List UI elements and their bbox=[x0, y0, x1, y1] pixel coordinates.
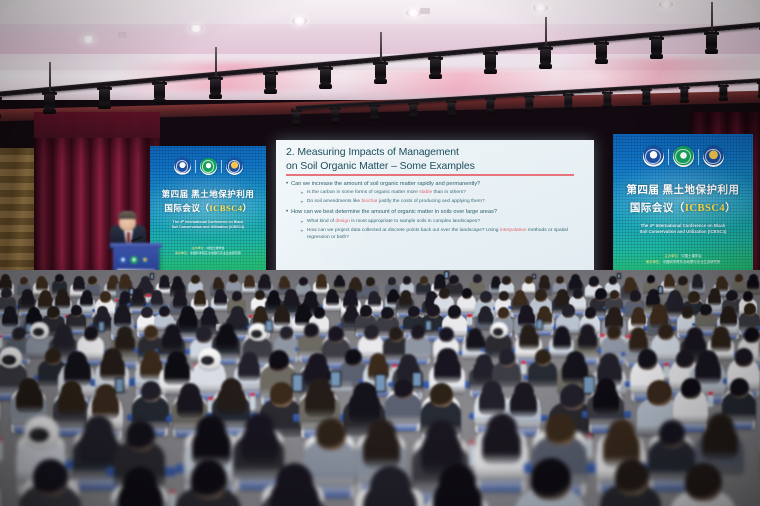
audience-chair bbox=[185, 432, 236, 496]
slide-body: •Can we increase the amount of soil orga… bbox=[286, 180, 586, 242]
fixture-body bbox=[44, 94, 55, 110]
laptop bbox=[171, 321, 184, 327]
audience-chair bbox=[684, 298, 704, 323]
stage-light-fixture bbox=[563, 94, 573, 110]
audience-person-head bbox=[630, 290, 642, 302]
audience-person-shoulders bbox=[33, 282, 49, 296]
audience-person-head bbox=[100, 291, 111, 303]
audience-chair bbox=[722, 296, 742, 321]
audience-person-head bbox=[345, 289, 356, 301]
audience-person-head bbox=[566, 351, 585, 371]
audience-person-hair bbox=[349, 280, 362, 293]
audience-person-shoulders bbox=[26, 335, 53, 359]
audience-person-shoulders bbox=[556, 314, 580, 335]
audience-chair bbox=[341, 296, 360, 320]
audience-person-head bbox=[492, 276, 500, 284]
table-skirt bbox=[493, 307, 516, 310]
institute-emblem-gold-icon bbox=[226, 158, 243, 175]
bottle-cap bbox=[0, 438, 2, 441]
audience-person-shoulders bbox=[265, 298, 283, 314]
audience-person-shoulders bbox=[73, 435, 123, 479]
audience-person-shoulders bbox=[138, 336, 163, 358]
audience-person-shoulders bbox=[385, 283, 400, 296]
audience-person-head bbox=[648, 289, 659, 300]
stage-light-fixture bbox=[704, 32, 718, 54]
audience-chair bbox=[53, 296, 72, 320]
audience-chair bbox=[133, 393, 168, 437]
audience-person-shoulders bbox=[154, 314, 174, 332]
audience-person-shoulders bbox=[727, 362, 760, 391]
audience-person-head bbox=[245, 413, 274, 443]
smartphone bbox=[292, 374, 303, 391]
audience-person-shoulders bbox=[495, 298, 512, 313]
audience-chair bbox=[696, 310, 715, 334]
audience-person-head bbox=[487, 413, 517, 444]
stage-light-fixture bbox=[649, 37, 663, 59]
audience-chair bbox=[322, 335, 349, 369]
audience-chair bbox=[404, 313, 424, 338]
audience-person-hair bbox=[229, 311, 246, 328]
audience-chair bbox=[644, 295, 662, 317]
audience-person-hair bbox=[0, 278, 12, 291]
audience-person-hair bbox=[473, 360, 494, 382]
audience-chair bbox=[475, 392, 508, 433]
audience-person-shoulders bbox=[405, 336, 431, 359]
audience-person-hair bbox=[96, 310, 110, 325]
audience-person-shoulders bbox=[732, 280, 746, 293]
smartphone bbox=[532, 274, 536, 280]
table-skirt bbox=[359, 379, 398, 384]
audience-person-shoulders bbox=[0, 317, 3, 337]
audience-person-hair bbox=[295, 309, 311, 326]
audience-person-shoulders bbox=[587, 393, 623, 425]
table-skirt bbox=[597, 348, 632, 353]
audience-person-shoulders bbox=[41, 315, 64, 335]
audience-person-shoulders bbox=[385, 296, 402, 311]
fixture-body bbox=[375, 64, 386, 80]
audience-person-head bbox=[498, 307, 509, 319]
water-bottle bbox=[170, 490, 175, 506]
audience-person-shoulders bbox=[296, 283, 311, 297]
audience-person-shoulders bbox=[109, 492, 170, 506]
audience-person-shoulders bbox=[137, 283, 154, 298]
audience-person-shoulders bbox=[260, 399, 302, 436]
downlight-icon bbox=[189, 25, 203, 32]
audience-person-head bbox=[351, 277, 361, 287]
audience-person-shoulders bbox=[198, 316, 219, 335]
slide-title-line-2: on Soil Organic Matter – Some Examples bbox=[286, 160, 586, 174]
ceiling-vent bbox=[118, 32, 127, 38]
audience-person-hair bbox=[368, 294, 381, 307]
audience-person-shoulders bbox=[462, 338, 487, 360]
audience-person-hair bbox=[119, 295, 132, 308]
audience-person-shoulders bbox=[552, 297, 571, 314]
water-bottle bbox=[65, 315, 70, 325]
table-skirt bbox=[268, 324, 297, 328]
audience-person-head bbox=[280, 276, 288, 285]
sub-bullet-arrow-icon: ➢ bbox=[300, 189, 304, 196]
audience-person-shoulders bbox=[722, 298, 743, 317]
audience-person-hair bbox=[537, 310, 551, 325]
audience-person-shoulders bbox=[376, 316, 399, 336]
table-skirt bbox=[0, 351, 3, 356]
audience-person-hair bbox=[201, 312, 217, 328]
audience-person-head bbox=[698, 350, 718, 371]
audience-person-head bbox=[647, 275, 655, 284]
table-skirt bbox=[621, 352, 657, 357]
audience-chair bbox=[0, 294, 15, 316]
audience-person-shoulders bbox=[403, 315, 424, 334]
audience-chair bbox=[173, 395, 207, 437]
audience-person-shoulders bbox=[362, 284, 379, 299]
white-cap bbox=[490, 322, 508, 339]
audience-person-hair bbox=[73, 279, 86, 292]
audience-person-head bbox=[364, 325, 378, 340]
podium-logo-blue-icon bbox=[119, 256, 127, 264]
audience-person-head bbox=[120, 274, 130, 284]
smartphone bbox=[129, 288, 134, 295]
bottle-cap bbox=[467, 314, 472, 317]
audience-person-shoulders bbox=[243, 337, 273, 363]
audience-chair bbox=[21, 479, 79, 506]
audience-person-shoulders bbox=[77, 336, 103, 359]
smartphone bbox=[617, 273, 621, 279]
bottle-cap bbox=[0, 335, 2, 338]
audience-person-head bbox=[103, 348, 122, 368]
slide-bullet: •How can we best determine the amount of… bbox=[286, 208, 586, 216]
audience-person-head bbox=[678, 276, 687, 286]
table-skirt bbox=[587, 308, 615, 312]
led-en-title-2: Soil Conservation and Utilization (ICBSC… bbox=[162, 225, 254, 230]
audience-person-shoulders bbox=[23, 315, 44, 334]
audience-person-shoulders bbox=[648, 439, 695, 481]
fixture-lens-icon bbox=[719, 97, 728, 101]
audience-person-shoulders bbox=[431, 282, 449, 298]
fixture-lens-icon bbox=[292, 122, 301, 126]
highlighted-term: stable bbox=[419, 190, 432, 195]
podium-logo-green-icon bbox=[130, 256, 138, 264]
audience-person-head bbox=[744, 327, 760, 343]
audience-chair bbox=[533, 431, 585, 496]
audience-person-hair bbox=[478, 310, 493, 325]
fixture-lens-icon bbox=[0, 114, 1, 119]
audience-person-hair bbox=[304, 360, 330, 387]
audience-person-shoulders bbox=[590, 297, 611, 316]
audience-chair bbox=[96, 297, 114, 320]
audience-chair bbox=[243, 334, 271, 369]
smartphone bbox=[658, 286, 663, 294]
audience-person-shoulders bbox=[188, 281, 203, 294]
audience-person-hair bbox=[539, 279, 551, 291]
table-skirt bbox=[354, 348, 389, 353]
audience-person-hair bbox=[684, 333, 705, 355]
audience-person-hair bbox=[708, 292, 721, 306]
audience-person-head bbox=[196, 415, 226, 447]
water-bottle bbox=[218, 337, 223, 350]
audience-person-shoulders bbox=[669, 362, 700, 390]
audience-person-hair bbox=[162, 330, 182, 351]
fixture-lens-icon bbox=[486, 111, 495, 115]
audience-person-shoulders bbox=[281, 298, 302, 316]
audience-person-head bbox=[600, 353, 619, 373]
audience-person-shoulders bbox=[339, 361, 368, 386]
audience-person-head bbox=[141, 276, 150, 286]
audience-chair bbox=[112, 335, 138, 368]
audience-chair bbox=[0, 360, 26, 400]
audience-person-head bbox=[403, 276, 411, 285]
audience-person-shoulders bbox=[175, 487, 240, 506]
audience-person-shoulders bbox=[549, 402, 593, 441]
institute-emblem-blue-icon bbox=[643, 146, 664, 167]
audience-person-shoulders bbox=[689, 281, 705, 295]
table-skirt bbox=[500, 415, 548, 421]
audience-person-hair bbox=[107, 279, 120, 293]
audience-person-hair bbox=[132, 291, 144, 304]
audience-person-head bbox=[625, 277, 635, 287]
audience-person-head bbox=[744, 303, 756, 316]
audience-person-shoulders bbox=[605, 297, 623, 313]
audience-person-head bbox=[560, 384, 585, 410]
fixture-body bbox=[651, 39, 662, 55]
speaker-hair bbox=[118, 211, 137, 219]
table-skirt bbox=[20, 326, 49, 330]
bottle-cap bbox=[249, 315, 254, 318]
audience-chair bbox=[275, 334, 298, 362]
audience-chair bbox=[213, 332, 239, 365]
audience-person-shoulders bbox=[515, 487, 585, 506]
truss-hanging-rod bbox=[380, 32, 382, 62]
fixture-body bbox=[448, 102, 456, 114]
table-skirt bbox=[643, 326, 676, 330]
table-skirt bbox=[146, 305, 168, 308]
table-skirt bbox=[363, 306, 386, 309]
stage-light-fixture bbox=[42, 92, 56, 114]
audience-person-shoulders bbox=[0, 363, 27, 393]
conference-hall-photo: 第四届 黑土地保护利用 国际会议（ICBSC4） The 4ᵗʰ Interna… bbox=[0, 0, 760, 506]
audience-person-head bbox=[96, 384, 116, 405]
audience-person-shoulders bbox=[680, 338, 709, 363]
audience-person-head bbox=[435, 274, 445, 284]
stage-light-fixture bbox=[369, 105, 379, 121]
audience-person-shoulders bbox=[116, 298, 133, 313]
audience-person-shoulders bbox=[396, 297, 414, 313]
audience-person-head bbox=[687, 327, 703, 344]
audience-person-hair bbox=[241, 424, 279, 463]
stage-light-fixture bbox=[485, 98, 495, 114]
audience-person-head bbox=[353, 382, 377, 407]
audience-person-shoulders bbox=[170, 298, 190, 316]
audience-person-head bbox=[143, 350, 161, 369]
audience-chair bbox=[603, 315, 625, 343]
audience-chair bbox=[626, 336, 651, 367]
ceiling-vent bbox=[420, 8, 430, 14]
water-bottle bbox=[0, 335, 2, 348]
bottle-cap bbox=[65, 315, 70, 318]
audience-person-head bbox=[743, 291, 753, 302]
table-skirt bbox=[0, 380, 12, 386]
table-skirt bbox=[166, 416, 215, 422]
audience-person-head bbox=[482, 381, 502, 402]
audience-person-head bbox=[411, 325, 426, 340]
audience-chair bbox=[601, 333, 625, 363]
water-bottle bbox=[208, 397, 213, 413]
audience-person-head bbox=[173, 276, 182, 285]
table-skirt bbox=[692, 323, 720, 327]
audience-person-shoulders bbox=[255, 281, 273, 297]
audience-person-shoulders bbox=[17, 283, 31, 295]
audience-person-hair bbox=[747, 278, 759, 290]
audience-person-shoulders bbox=[600, 484, 661, 506]
audience-person-hair bbox=[316, 278, 328, 290]
audience-person-head bbox=[520, 305, 533, 319]
audience-person-hair bbox=[244, 278, 255, 289]
water-bottle bbox=[708, 392, 713, 408]
audience-person-shoulders bbox=[104, 282, 122, 298]
audience-person-hair bbox=[53, 330, 74, 352]
audience-person-shoulders bbox=[739, 299, 757, 315]
audience-person-head bbox=[180, 383, 200, 404]
audience-person-shoulders bbox=[567, 281, 584, 296]
audience-person-hair bbox=[555, 293, 569, 308]
audience-chair bbox=[305, 435, 355, 498]
audience-person-hair bbox=[695, 357, 721, 384]
audience-person-shoulders bbox=[0, 296, 16, 313]
water-bottle bbox=[587, 434, 592, 459]
audience-chair bbox=[309, 314, 328, 338]
audience-person-head bbox=[71, 305, 82, 316]
audience-person-hair bbox=[650, 309, 668, 328]
fixture-lens-icon bbox=[484, 69, 497, 74]
audience-chair bbox=[301, 391, 339, 438]
audience-person-head bbox=[610, 290, 620, 300]
fixture-body bbox=[320, 69, 331, 85]
audience-person-hair bbox=[434, 278, 447, 292]
slide-bullet-text: How can we best determine the amount of … bbox=[291, 208, 497, 216]
audience-person-head bbox=[448, 305, 462, 320]
audience-person-head bbox=[28, 307, 40, 319]
bottle-cap bbox=[469, 441, 474, 444]
audience-person-hair bbox=[58, 388, 85, 416]
audience-chair bbox=[11, 389, 46, 432]
audience-person-hair bbox=[692, 278, 703, 290]
audience-person-shoulders bbox=[19, 485, 81, 506]
audience-person-head bbox=[659, 420, 685, 448]
audience-person-shoulders bbox=[234, 364, 264, 390]
audience-chair bbox=[739, 310, 759, 335]
stage-light-fixture bbox=[152, 82, 166, 104]
stage-light-fixture bbox=[538, 47, 552, 69]
audience-person-shoulders bbox=[298, 334, 324, 357]
audience-person-shoulders bbox=[149, 297, 166, 312]
podium-logo-row bbox=[119, 256, 149, 264]
audience-person-hair bbox=[605, 312, 622, 330]
audience-person-hair bbox=[421, 431, 462, 474]
downlight-icon bbox=[659, 1, 673, 8]
led-cn-title-2: 国际会议（ICBSC4） bbox=[164, 202, 251, 214]
table-skirt bbox=[90, 323, 116, 326]
audience-person-head bbox=[327, 289, 337, 300]
fixture-lens-icon bbox=[369, 118, 378, 122]
audience-chair bbox=[293, 312, 314, 338]
slide-sub-bullet-text: Is the carbon in some forms of organic m… bbox=[307, 189, 466, 196]
table-skirt bbox=[294, 385, 341, 391]
stage-light-fixture bbox=[524, 96, 534, 112]
audience-person-head bbox=[22, 289, 32, 300]
audience-chair bbox=[670, 360, 700, 397]
audience-person-shoulders bbox=[58, 366, 94, 398]
audience-person-head bbox=[133, 288, 142, 298]
table-skirt bbox=[134, 348, 168, 352]
audience-person-head bbox=[285, 289, 297, 301]
table-skirt bbox=[107, 351, 145, 356]
audience-chair bbox=[262, 485, 324, 506]
audience-person-shoulders bbox=[0, 363, 5, 393]
audience-chair bbox=[67, 311, 85, 334]
audience-person-shoulders bbox=[355, 314, 376, 333]
audience-person-hair bbox=[119, 278, 132, 291]
audience-person-head bbox=[231, 306, 244, 319]
audience-person-shoulders bbox=[475, 314, 495, 331]
table-skirt bbox=[625, 381, 672, 387]
audience-person-head bbox=[580, 324, 595, 340]
audience-person-head bbox=[693, 274, 702, 283]
audience-person-hair bbox=[510, 390, 536, 417]
highlighted-term: biochar bbox=[362, 199, 378, 204]
audience-person-head bbox=[20, 277, 28, 285]
audience-person-hair bbox=[279, 279, 290, 290]
audience-person-shoulders bbox=[87, 399, 123, 431]
smartphone bbox=[425, 320, 432, 331]
audience-person-shoulders bbox=[536, 282, 552, 296]
audience-person-shoulders bbox=[6, 337, 30, 359]
audience-person-shoulders bbox=[156, 282, 171, 296]
audience-chair bbox=[723, 389, 756, 430]
audience-person-shoulders bbox=[70, 283, 87, 298]
audience-chair bbox=[19, 295, 36, 317]
fixture-lens-icon bbox=[319, 84, 332, 89]
audience-person-shoulders bbox=[707, 337, 735, 361]
white-cap bbox=[198, 348, 221, 369]
audience-person-hair bbox=[213, 280, 224, 291]
audience-chair bbox=[235, 430, 283, 490]
table-skirt bbox=[400, 325, 428, 329]
audience-person-head bbox=[269, 290, 279, 301]
audience-person-shoulders bbox=[303, 440, 357, 487]
highlighted-term: design bbox=[335, 219, 349, 224]
audience-person-head bbox=[260, 274, 270, 284]
audience-person-hair bbox=[363, 481, 417, 506]
water-bottle bbox=[467, 314, 472, 325]
audience-chair bbox=[300, 298, 320, 323]
audience-person-hair bbox=[274, 309, 290, 325]
table-skirt bbox=[34, 375, 73, 380]
fixture-body bbox=[720, 86, 728, 98]
table-skirt bbox=[0, 305, 20, 308]
audience-person-hair bbox=[139, 280, 151, 293]
fixture-lens-icon bbox=[374, 79, 387, 84]
bottle-cap bbox=[146, 294, 151, 297]
laptop bbox=[216, 324, 230, 330]
audience-person-hair bbox=[667, 294, 683, 310]
audience-person-head bbox=[539, 306, 550, 317]
smartphone bbox=[412, 372, 421, 386]
fixture-body bbox=[596, 44, 607, 60]
audience-person-head bbox=[437, 348, 457, 369]
audience-person-head bbox=[726, 290, 738, 302]
audience-person-shoulders bbox=[469, 366, 498, 392]
audience-person-shoulders bbox=[630, 364, 665, 394]
audience-person-shoulders bbox=[651, 335, 680, 360]
